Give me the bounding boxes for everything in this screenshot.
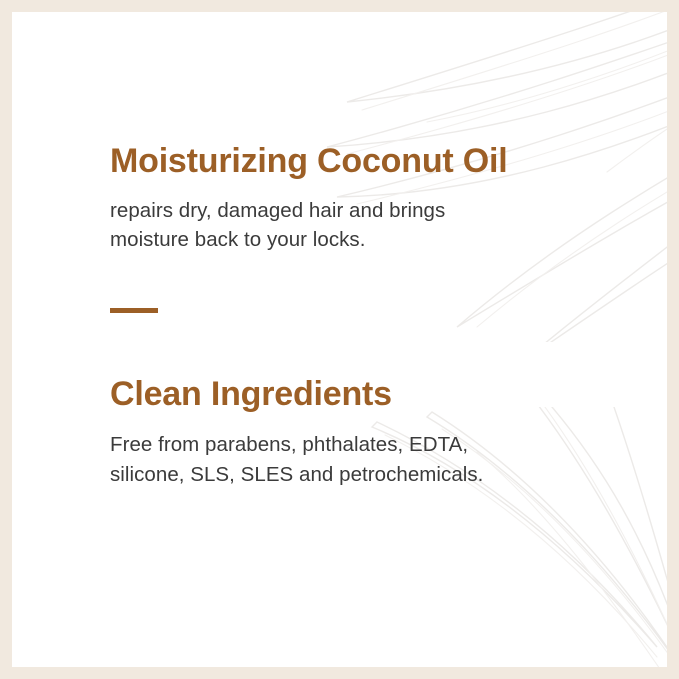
section-body: Free from parabens, phthalates, EDTA, si… (110, 430, 610, 488)
section-heading: Moisturizing Coconut Oil (110, 142, 610, 181)
section-body-line: repairs dry, damaged hair and brings (110, 196, 610, 225)
section-divider-rule (110, 308, 158, 313)
section-body-line: silicone, SLS, SLES and petrochemicals. (110, 460, 610, 489)
section-body-line: moisture back to your locks. (110, 225, 610, 254)
section-body-line: Free from parabens, phthalates, EDTA, (110, 430, 610, 459)
divider-container (110, 308, 610, 313)
section-body: repairs dry, damaged hair and brings moi… (110, 196, 610, 254)
card-inner-surface: Moisturizing Coconut Oil repairs dry, da… (12, 12, 667, 667)
benefit-section-moisturizing: Moisturizing Coconut Oil repairs dry, da… (110, 142, 610, 254)
benefits-content: Moisturizing Coconut Oil repairs dry, da… (110, 142, 610, 489)
section-heading: Clean Ingredients (110, 375, 610, 414)
product-benefits-card: Moisturizing Coconut Oil repairs dry, da… (0, 0, 679, 679)
benefit-section-clean-ingredients: Clean Ingredients Free from parabens, ph… (110, 375, 610, 488)
